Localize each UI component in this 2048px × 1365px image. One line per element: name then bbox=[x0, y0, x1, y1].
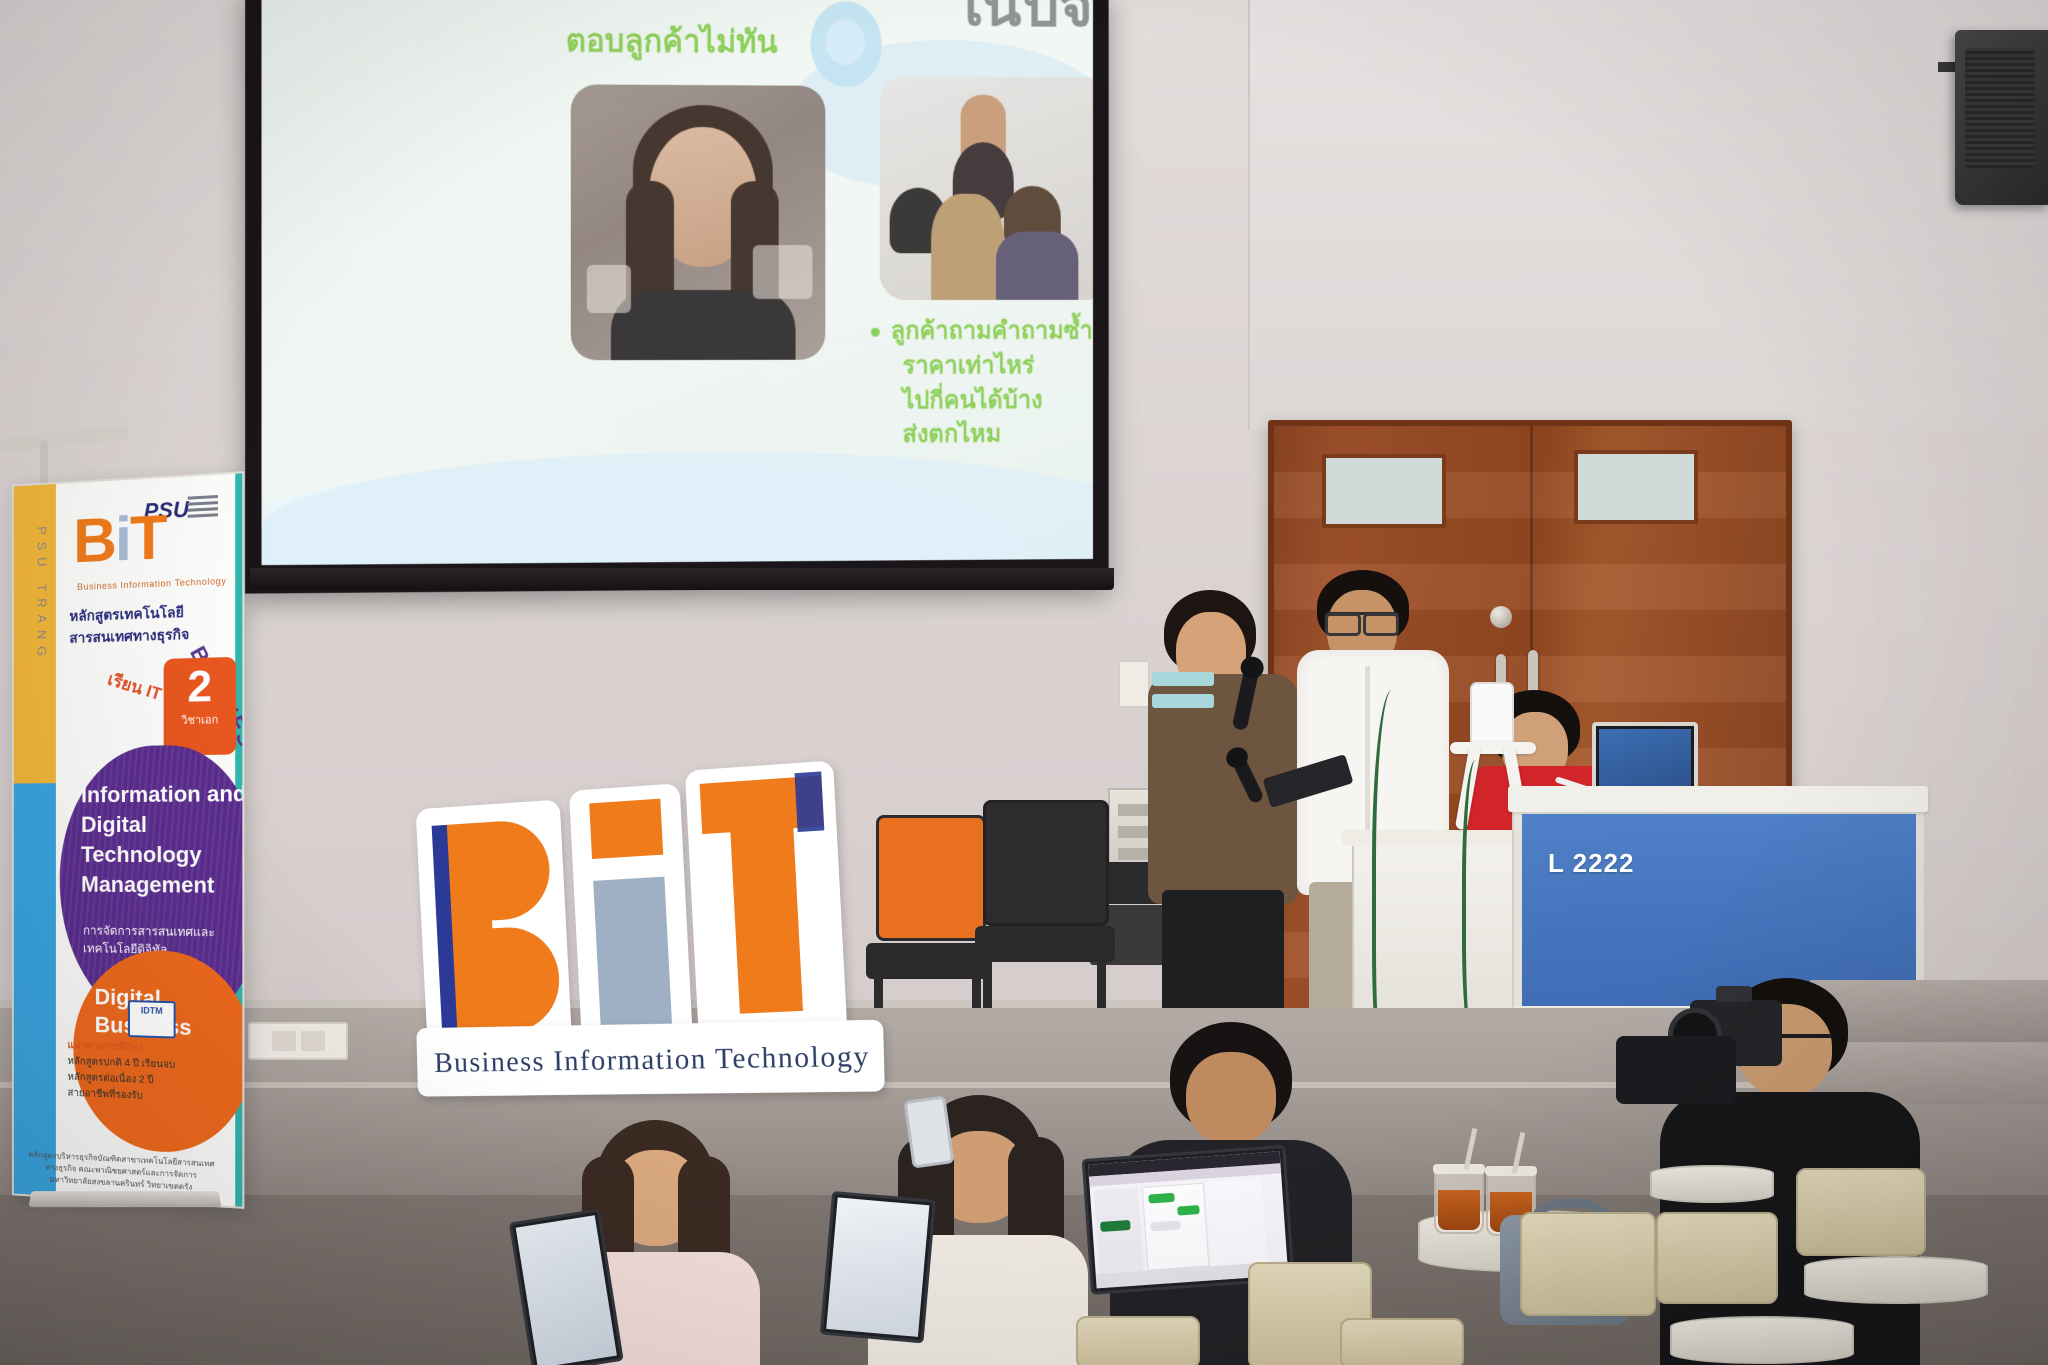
wall-panel-right bbox=[1248, 0, 2048, 430]
banner-vertical-text: PSU TRANG bbox=[20, 526, 49, 664]
light-switch[interactable] bbox=[1118, 660, 1150, 708]
projection-screen-bar bbox=[250, 568, 1114, 590]
bit-letter-b: B bbox=[73, 506, 115, 577]
banner-base-stand bbox=[29, 1191, 222, 1207]
tablet-arm-3 bbox=[1670, 1316, 1854, 1364]
slide-heading-left: ตอบลูกค้าไม่ทัน bbox=[566, 15, 778, 66]
room-number-label: L 2222 bbox=[1548, 848, 1634, 879]
projected-slide: ในปัจจุบัน ตอบลูกค้าไม่ทัน ข้อมูลลูกค้าก… bbox=[262, 0, 1093, 565]
slide-photo-call-center bbox=[571, 84, 826, 360]
banner-bullet-2: สายอาชีพที่รองรับ bbox=[67, 1086, 175, 1106]
laptop-2[interactable] bbox=[820, 1191, 932, 1339]
camera-flash-shoe bbox=[1716, 986, 1752, 1002]
banner-bullet-list: แนวทางการศึกษา หลักสูตรปกติ 4 ปี เรียนจบ… bbox=[67, 1038, 175, 1106]
banner-badge-number: 2 bbox=[164, 657, 237, 711]
bit-letter-t: T bbox=[130, 503, 166, 574]
bit-letter-i: i bbox=[115, 505, 130, 575]
slide-bullet-1: ราคาเท่าไหร่ bbox=[865, 349, 1093, 384]
lecture-chair-5[interactable] bbox=[1076, 1316, 1200, 1365]
projection-screen: ในปัจจุบัน ตอบลูกค้าไม่ทัน ข้อมูลลูกค้าก… bbox=[245, 0, 1108, 594]
lecture-chair-2[interactable] bbox=[1520, 1212, 1656, 1316]
slide-title: ในปัจจุบัน bbox=[954, 0, 1093, 52]
eyeglasses bbox=[1325, 612, 1399, 630]
phone-on-stand[interactable] bbox=[1470, 682, 1514, 748]
wall-power-outlet[interactable] bbox=[248, 1022, 348, 1060]
banner-track-1-en: Information and Digital Technology Manag… bbox=[81, 779, 244, 902]
slide-blob-inner bbox=[825, 19, 865, 65]
banner-badge-caption: วิชาเอก bbox=[164, 710, 237, 730]
tablet-arm-2 bbox=[1804, 1256, 1988, 1304]
slide-wave-decor bbox=[262, 450, 1093, 565]
screenshot-root: ในปัจจุบัน ตอบลูกค้าไม่ทัน ข้อมูลลูกค้าก… bbox=[0, 0, 2048, 1365]
floor-sign-bit: Business Information Technology bbox=[407, 764, 890, 1118]
slide-bullet-list: ลูกค้าถามคำถามซ้ำ ๆ เช่น ราคาเท่าไหร่ ไป… bbox=[865, 315, 1093, 454]
banner-idtm-chip: IDTM bbox=[128, 1000, 176, 1039]
banner-bit-logo: BiT bbox=[73, 502, 165, 577]
banner-number-badge: 2 วิชาเอก bbox=[164, 657, 237, 756]
slide-bullet-2: ไปกี่คนได้บ้าง bbox=[865, 383, 1093, 418]
tablet-arm-1 bbox=[1650, 1165, 1774, 1203]
slide-photo-classroom bbox=[880, 76, 1093, 300]
slide-bullet-3: ส่งตกไหม bbox=[865, 418, 1093, 454]
camera-bag bbox=[1616, 1036, 1736, 1104]
drink-cup-1[interactable] bbox=[1434, 1168, 1484, 1234]
slide-bullet-0: ลูกค้าถามคำถามซ้ำ ๆ เช่น bbox=[865, 315, 1093, 350]
roll-up-banner: PSU TRANG PSU BiT Business Information T… bbox=[12, 471, 244, 1209]
ceiling-speaker bbox=[1955, 30, 2048, 205]
lecture-chair-4[interactable] bbox=[1796, 1168, 1926, 1256]
floor-sign-caption: Business Information Technology bbox=[416, 1020, 884, 1080]
banner-logo-subtitle: Business Information Technology bbox=[77, 576, 226, 592]
banner-thai-headline: หลักสูตรเทคโนโลยีสารสนเทศทางธุรกิจ bbox=[69, 600, 242, 650]
lecture-chair-6[interactable] bbox=[1340, 1318, 1464, 1365]
lecture-chair-3[interactable] bbox=[1656, 1212, 1778, 1304]
